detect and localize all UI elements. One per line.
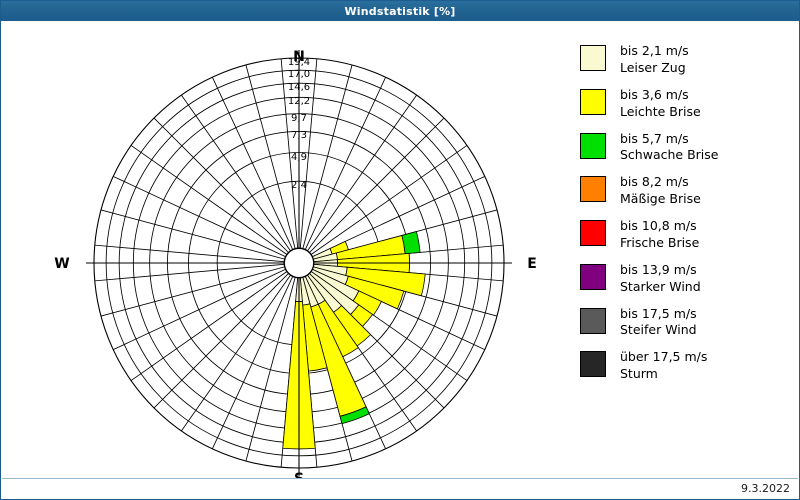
legend-label-group: bis 13,9 m/sStarker Wind	[620, 262, 701, 296]
legend-color-swatch	[580, 308, 606, 334]
legend-label-group: bis 5,7 m/sSchwache Brise	[620, 131, 718, 165]
wind-speed-legend: bis 2,1 m/sLeiser Zugbis 3,6 m/sLeichte …	[580, 43, 795, 393]
radial-tick-label: 4,9	[279, 152, 319, 163]
legend-beaufort-name: Schwache Brise	[620, 147, 718, 164]
grid-spoke	[113, 176, 285, 256]
legend-item[interactable]: bis 2,1 m/sLeiser Zug	[580, 43, 795, 77]
grid-spoke	[101, 210, 285, 259]
legend-speed-range: bis 3,6 m/s	[620, 87, 701, 104]
legend-beaufort-name: Mäßige Brise	[620, 191, 701, 208]
grid-spoke	[181, 95, 290, 251]
compass-label-west: W	[47, 256, 77, 272]
legend-speed-range: bis 8,2 m/s	[620, 174, 701, 191]
grid-spoke	[181, 275, 290, 431]
rose-petal-segment	[402, 232, 420, 254]
radial-tick-label: 2,4	[279, 180, 319, 191]
grid-spoke	[113, 269, 285, 349]
legend-speed-range: bis 13,9 m/s	[620, 262, 701, 279]
window-titlebar: Windstatistik [%]	[1, 1, 799, 21]
legend-label-group: bis 10,8 m/sFrische Brise	[620, 218, 699, 252]
legend-label-group: bis 8,2 m/sMäßige Brise	[620, 174, 701, 208]
calm-centre-circle	[285, 249, 314, 278]
legend-item[interactable]: bis 10,8 m/sFrische Brise	[580, 218, 795, 252]
legend-beaufort-name: Steifer Wind	[620, 322, 697, 339]
compass-label-east: E	[517, 256, 547, 272]
legend-item[interactable]: bis 17,5 m/sSteifer Wind	[580, 306, 795, 340]
statusbar: 9.3.2022	[2, 478, 798, 499]
legend-speed-range: bis 17,5 m/s	[620, 306, 697, 323]
radial-tick-label: 12,2	[279, 96, 319, 107]
windstatistik-window: Windstatistik [%] N S W E 2,44,97,39,712…	[0, 0, 800, 500]
legend-beaufort-name: Leiser Zug	[620, 60, 689, 77]
grid-spoke	[154, 118, 288, 252]
legend-label-group: über 17,5 m/sSturm	[620, 349, 707, 383]
legend-color-swatch	[580, 89, 606, 115]
radial-tick-label: 9,7	[279, 113, 319, 124]
window-title: Windstatistik [%]	[344, 5, 455, 18]
grid-spoke	[131, 272, 287, 381]
radial-tick-label: 7,3	[279, 130, 319, 141]
legend-label-group: bis 17,5 m/sSteifer Wind	[620, 306, 697, 340]
legend-color-swatch	[580, 176, 606, 202]
date-stamp: 9.3.2022	[741, 482, 790, 495]
legend-speed-range: bis 5,7 m/s	[620, 131, 718, 148]
wind-rose-plot: N S W E 2,44,97,39,712,214,617,019,4	[2, 21, 562, 478]
legend-label-group: bis 3,6 m/sLeichte Brise	[620, 87, 701, 121]
legend-beaufort-name: Frische Brise	[620, 235, 699, 252]
legend-beaufort-name: Leichte Brise	[620, 104, 701, 121]
legend-label-group: bis 2,1 m/sLeiser Zug	[620, 43, 689, 77]
legend-speed-range: bis 2,1 m/s	[620, 43, 689, 60]
grid-spoke	[101, 267, 285, 316]
grid-spoke	[311, 145, 467, 254]
legend-speed-range: über 17,5 m/s	[620, 349, 707, 366]
grid-spoke	[154, 274, 288, 408]
chart-content-area: N S W E 2,44,97,39,712,214,617,019,4 bis…	[2, 21, 798, 478]
legend-color-swatch	[580, 220, 606, 246]
grid-spoke	[131, 145, 287, 254]
legend-color-swatch	[580, 133, 606, 159]
grid-spoke	[310, 118, 444, 252]
legend-beaufort-name: Starker Wind	[620, 279, 701, 296]
legend-speed-range: bis 10,8 m/s	[620, 218, 699, 235]
legend-item[interactable]: bis 8,2 m/sMäßige Brise	[580, 174, 795, 208]
legend-color-swatch	[580, 264, 606, 290]
legend-color-swatch	[580, 45, 606, 71]
legend-item[interactable]: bis 13,9 m/sStarker Wind	[580, 262, 795, 296]
legend-item[interactable]: bis 5,7 m/sSchwache Brise	[580, 131, 795, 165]
grid-spoke	[212, 277, 292, 449]
legend-item[interactable]: über 17,5 m/sSturm	[580, 349, 795, 383]
legend-color-swatch	[580, 351, 606, 377]
legend-item[interactable]: bis 3,6 m/sLeichte Brise	[580, 87, 795, 121]
radial-tick-label: 19,4	[279, 57, 319, 68]
radial-tick-label: 14,6	[279, 82, 319, 93]
legend-beaufort-name: Sturm	[620, 366, 707, 383]
radial-tick-label: 17,0	[279, 69, 319, 80]
grid-spoke	[308, 95, 417, 251]
